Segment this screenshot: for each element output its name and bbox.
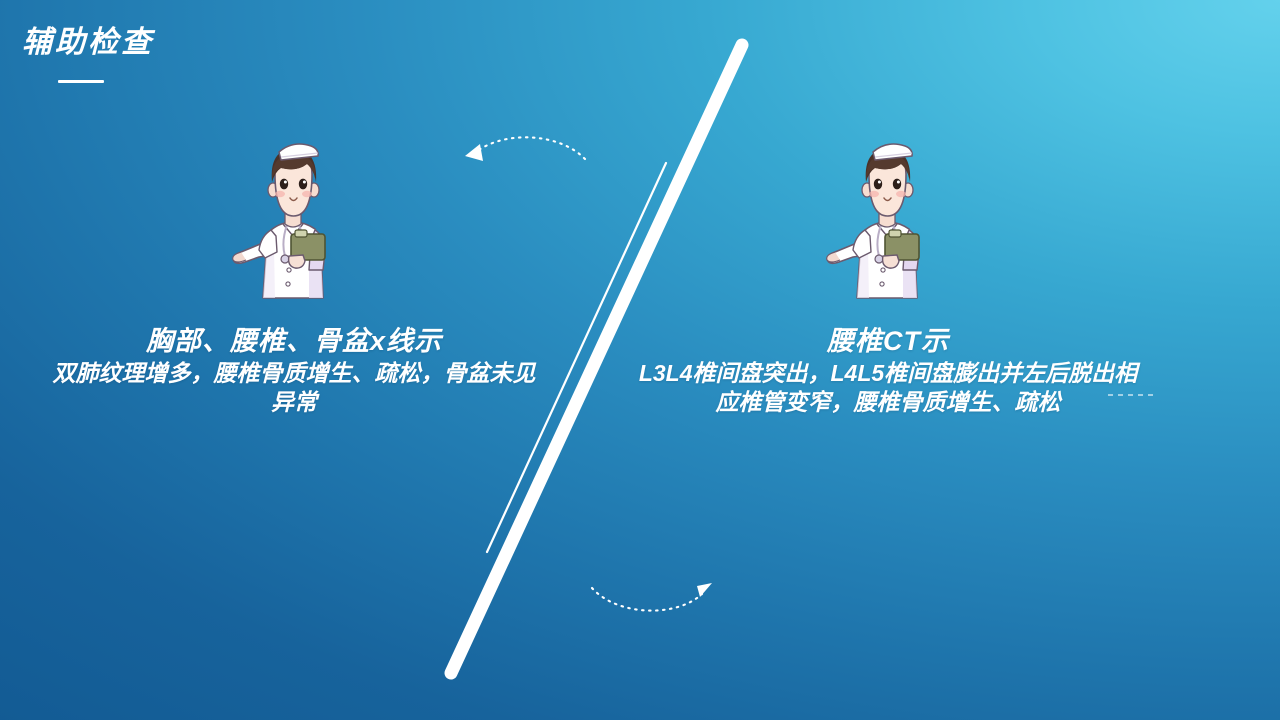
arrow-bottom-right: [592, 583, 712, 611]
column-ct-title: 腰椎CT示: [628, 326, 1148, 357]
column-ct-body: L3L4椎间盘突出，L4L5椎间盘膨出并左后脱出相应椎管变窄，腰椎骨质增生、疏松: [628, 359, 1148, 418]
title-underline: [58, 80, 104, 83]
page-title-label: 辅助检查: [22, 28, 322, 58]
column-xray-title: 胸部、腰椎、骨盆x线示: [34, 326, 554, 357]
slide-root: 辅助检查: [0, 0, 1280, 720]
nurse-character-left: [34, 120, 554, 310]
column-xray: 胸部、腰椎、骨盆x线示 双肺纹理增多，腰椎骨质增生、疏松，骨盆未见异常: [34, 120, 554, 418]
column-xray-body: 双肺纹理增多，腰椎骨质增生、疏松，骨盆未见异常: [34, 359, 554, 418]
nurse-character-icon: [813, 130, 963, 310]
nurse-character-right: [628, 120, 1148, 310]
column-ct: 腰椎CT示 L3L4椎间盘突出，L4L5椎间盘膨出并左后脱出相应椎管变窄，腰椎骨…: [628, 120, 1148, 418]
page-title: 辅助检查: [22, 28, 322, 98]
nurse-character-icon: [219, 130, 369, 310]
